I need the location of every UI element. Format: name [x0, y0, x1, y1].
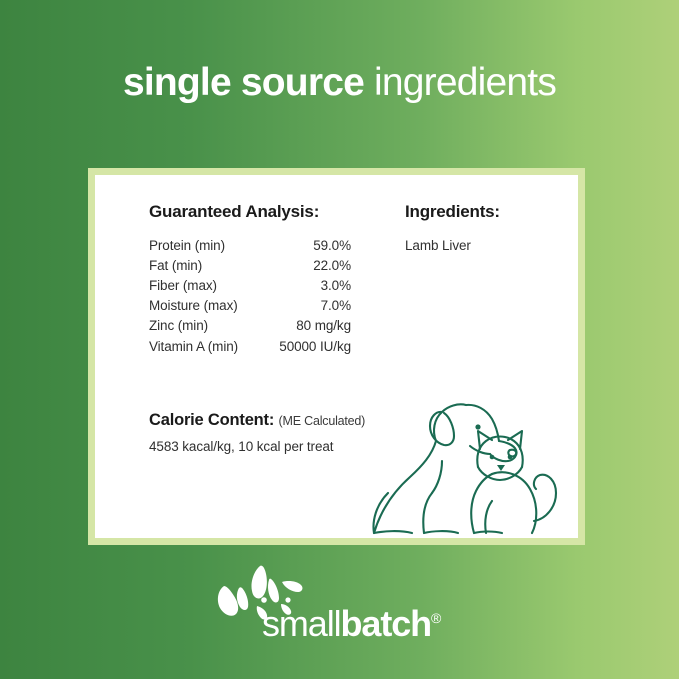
nutrient-label: Fiber (max) [149, 275, 261, 295]
table-row: Vitamin A (min) 50000 IU/kg [149, 336, 351, 356]
table-row: Fiber (max) 3.0% [149, 275, 351, 295]
page-title-bold: single source [123, 61, 364, 104]
nutrient-value: 50000 IU/kg [261, 336, 351, 356]
nutrient-label: Moisture (max) [149, 296, 261, 316]
page-title-light: ingredients [374, 61, 556, 104]
nutrient-value: 7.0% [261, 296, 351, 316]
nutrient-label: Fat (min) [149, 255, 261, 275]
brand-name-batch: batch [341, 603, 432, 644]
table-row: Zinc (min) 80 mg/kg [149, 316, 351, 336]
brand-name: smallbatch® [262, 597, 441, 645]
nutrient-value: 22.0% [261, 255, 351, 275]
calorie-content-note: (ME Calculated) [279, 414, 366, 428]
nutrient-label: Zinc (min) [149, 316, 261, 336]
nutrition-card-inner: Guaranteed Analysis: Protein (min) 59.0%… [95, 175, 578, 538]
table-row: Moisture (max) 7.0% [149, 296, 351, 316]
brand-logo: smallbatch® [0, 562, 679, 652]
guaranteed-analysis-table: Protein (min) 59.0% Fat (min) 22.0% Fibe… [149, 235, 351, 356]
registered-trademark-icon: ® [431, 610, 441, 626]
guaranteed-analysis-title: Guaranteed Analysis: [149, 202, 359, 222]
nutrient-label: Vitamin A (min) [149, 336, 261, 356]
nutrition-card: Guaranteed Analysis: Protein (min) 59.0%… [88, 168, 585, 545]
nutrient-value: 3.0% [261, 275, 351, 295]
ingredients-block: Ingredients: Lamb Liver [405, 202, 565, 255]
table-row: Protein (min) 59.0% [149, 235, 351, 255]
nutrient-value: 59.0% [261, 235, 351, 255]
calorie-content-title: Calorie Content: [149, 411, 274, 429]
product-info-graphic: single source ingredients Guaranteed Ana… [0, 0, 679, 679]
page-title: single source ingredients [0, 60, 679, 106]
nutrient-value: 80 mg/kg [261, 316, 351, 336]
table-row: Fat (min) 22.0% [149, 255, 351, 275]
ingredients-title: Ingredients: [405, 202, 565, 222]
dog-and-cat-illustration [366, 393, 576, 538]
ingredients-list: Lamb Liver [405, 236, 565, 255]
guaranteed-analysis-block: Guaranteed Analysis: Protein (min) 59.0%… [149, 202, 359, 356]
brand-name-small: small [262, 603, 341, 644]
nutrient-label: Protein (min) [149, 235, 261, 255]
